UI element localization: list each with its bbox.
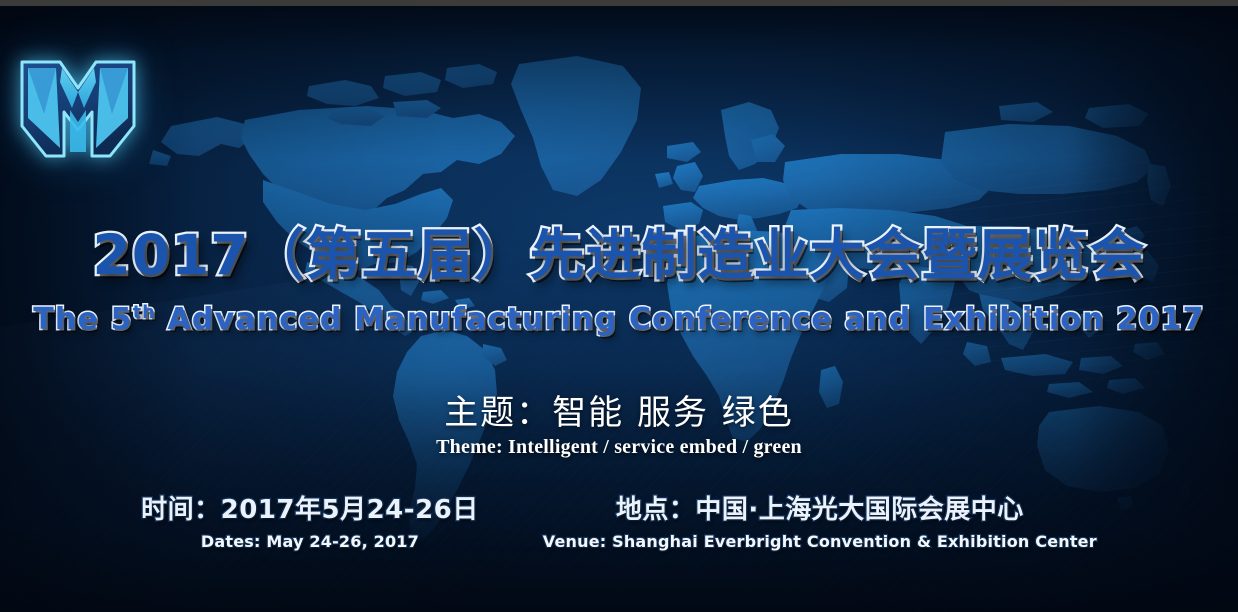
- event-venue: 地点：中国·上海光大国际会展中心 Venue: Shanghai Everbri…: [543, 496, 1097, 551]
- event-dates: 时间：2017年5月24-26日 Dates: May 24-26, 2017: [141, 496, 479, 551]
- page-title-en-pre: The 5: [33, 302, 133, 337]
- event-venue-en: Venue: Shanghai Everbright Convention & …: [543, 532, 1097, 551]
- page-title-cn: 2017（第五届）先进制造业大会暨展览会: [0, 228, 1238, 283]
- event-dates-cn: 时间：2017年5月24-26日: [141, 496, 479, 526]
- theme-en: Theme: Intelligent / service embed / gre…: [0, 436, 1238, 459]
- conference-banner: 2017（第五届）先进制造业大会暨展览会 The 5th Advanced Ma…: [0, 0, 1238, 612]
- m-shield-logo-icon: [14, 52, 142, 170]
- ordinal-suffix: th: [133, 303, 156, 323]
- event-info-row: 时间：2017年5月24-26日 Dates: May 24-26, 2017 …: [0, 496, 1238, 551]
- event-venue-cn: 地点：中国·上海光大国际会展中心: [543, 496, 1097, 526]
- top-bar: [0, 0, 1238, 6]
- theme-cn: 主题：智能 服务 绿色: [0, 385, 1238, 434]
- page-title-en: The 5th Advanced Manufacturing Conferenc…: [0, 305, 1238, 335]
- event-dates-en: Dates: May 24-26, 2017: [141, 532, 479, 551]
- page-title-en-post: Advanced Manufacturing Conference and Ex…: [156, 302, 1205, 337]
